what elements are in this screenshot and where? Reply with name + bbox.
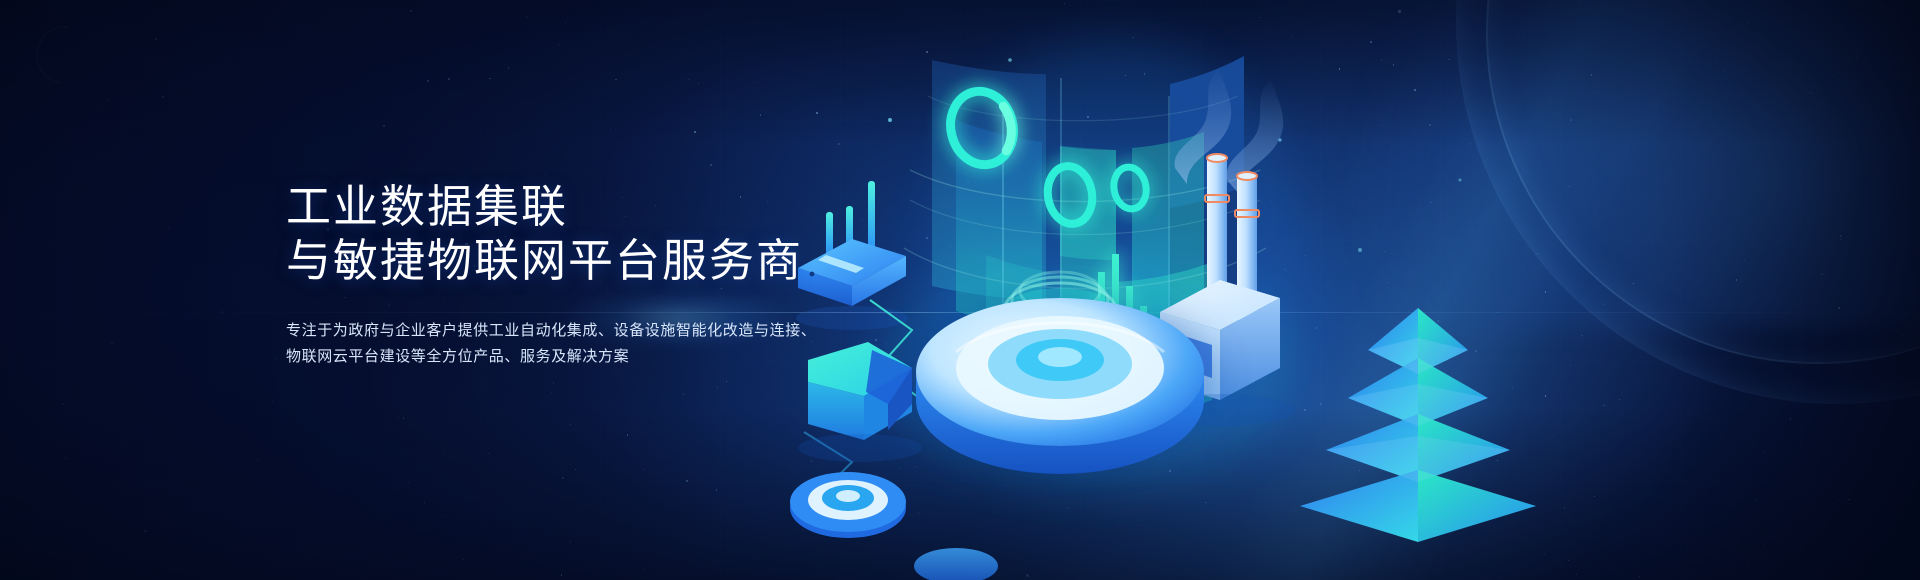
subtitle-line-1: 专注于为政府与企业客户提供工业自动化集成、设备设施智能化改造与连接、 [286,318,906,344]
hero-illustration [760,0,1920,580]
hero-banner: 工业数据集联 与敏捷物联网平台服务商 专注于为政府与企业客户提供工业自动化集成、… [0,0,1920,580]
headline-line-1: 工业数据集联 [286,181,568,232]
headline-line-2: 与敏捷物联网平台服务商 [286,234,906,288]
data-cylinder [914,548,998,580]
lower-ring-device [790,472,906,538]
hero-subtitle: 专注于为政府与企业客户提供工业自动化集成、设备设施智能化改造与连接、 物联网云平… [286,318,906,370]
subtitle-line-2: 物联网云平台建设等全方位产品、服务及解决方案 [286,344,906,370]
pyramid-layers [1300,308,1830,542]
hero-copy: 工业数据集联 与敏捷物联网平台服务商 专注于为政府与企业客户提供工业自动化集成、… [286,150,906,385]
page-title: 工业数据集联 与敏捷物联网平台服务商 [286,180,906,288]
